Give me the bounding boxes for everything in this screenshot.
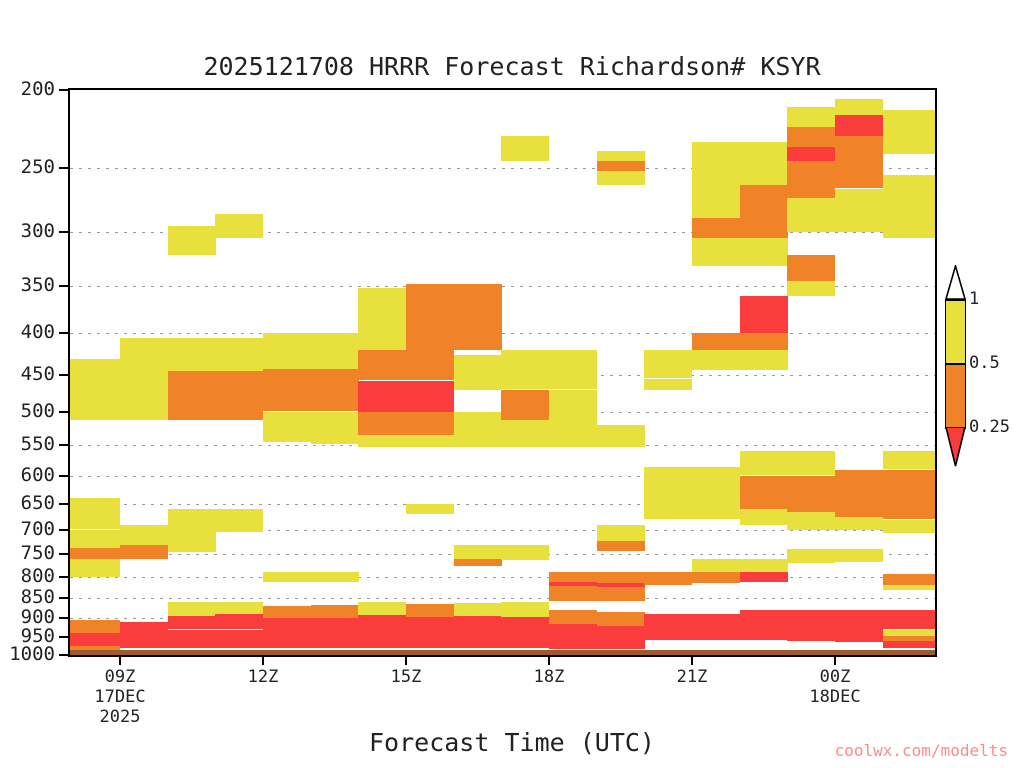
colorbar-tick-label: 1 [969, 291, 979, 308]
heatmap-cell [787, 281, 835, 296]
heatmap-cell [597, 639, 645, 649]
heatmap-cell [549, 624, 597, 637]
heatmap-cell [168, 509, 216, 530]
heatmap-cell [644, 614, 692, 628]
heatmap-cell [644, 379, 692, 390]
heatmap-cell [168, 530, 216, 552]
heatmap-cell [120, 390, 168, 420]
x-axis-label: 18Z [489, 667, 609, 687]
heatmap-cell [311, 618, 359, 635]
heatmap-cell [692, 238, 740, 266]
heatmap-cell [454, 412, 502, 447]
heatmap-cell [358, 288, 406, 350]
heatmap-cell [406, 617, 454, 634]
heatmap-cell [835, 99, 883, 116]
heatmap-cell [358, 412, 406, 436]
y-axis-tick [59, 529, 68, 531]
heatmap-cell [549, 610, 597, 624]
y-axis-tick [59, 89, 68, 91]
heatmap-cell [883, 498, 935, 519]
plot-clip [70, 90, 935, 655]
heatmap-cell [740, 476, 788, 509]
heatmap-cell [597, 425, 645, 447]
heatmap-cell [787, 161, 835, 198]
heatmap-cell [597, 572, 645, 583]
y-axis-label: 800 [0, 567, 55, 586]
y-axis-label: 350 [0, 276, 55, 295]
heatmap-cell [215, 602, 263, 614]
heatmap-cell [549, 572, 597, 582]
heatmap-cell [692, 218, 740, 238]
heatmap-cell [501, 635, 549, 648]
heatmap-cell [501, 136, 549, 161]
heatmap-cell [549, 420, 597, 447]
heatmap-cell [740, 509, 788, 525]
heatmap-cell [883, 610, 935, 629]
heatmap-cell [406, 604, 454, 617]
heatmap-cell [70, 402, 120, 420]
y-axis-tick [59, 231, 68, 233]
heatmap-cell [883, 470, 935, 499]
heatmap-cell [787, 198, 835, 232]
heatmap-cell [692, 559, 740, 573]
y-axis-label: 850 [0, 588, 55, 607]
heatmap-cell [70, 548, 120, 559]
heatmap-cell [883, 175, 935, 214]
x-axis-label: 15Z [346, 667, 466, 687]
heatmap-cell [883, 214, 935, 238]
heatmap-cell [501, 545, 549, 560]
x-axis-tick [119, 656, 121, 665]
heatmap-cell [501, 617, 549, 635]
y-axis-label: 250 [0, 158, 55, 177]
heatmap-cell [120, 338, 168, 390]
heatmap-cell [454, 634, 502, 648]
y-axis-tick [59, 576, 68, 578]
heatmap-cell [597, 161, 645, 171]
y-axis-label: 650 [0, 494, 55, 513]
heatmap-cell [692, 498, 740, 519]
gridline [70, 333, 935, 334]
heatmap-cell [740, 185, 788, 218]
heatmap-cell [549, 586, 597, 601]
heatmap-cell [263, 572, 311, 582]
heatmap-cell [263, 606, 311, 618]
terrain-band [70, 650, 935, 655]
y-axis-tick [59, 374, 68, 376]
heatmap-cell [454, 390, 502, 412]
heatmap-cell [406, 381, 454, 412]
heatmap-cell [215, 614, 263, 629]
heatmap-cell [644, 467, 692, 499]
y-axis-tick [59, 475, 68, 477]
x-axis-tick [834, 656, 836, 665]
heatmap-cell [740, 451, 788, 475]
heatmap-cell [644, 350, 692, 378]
heatmap-cell [549, 637, 597, 649]
heatmap-cell [835, 168, 883, 188]
heatmap-cell [406, 435, 454, 447]
heatmap-cell [597, 541, 645, 551]
heatmap-cell [70, 559, 120, 577]
heatmap-cell [692, 628, 740, 640]
x-axis-label: 12Z [203, 667, 323, 687]
colorbar-tick-label: 0.5 [969, 355, 1000, 372]
heatmap-cell [70, 620, 120, 633]
colorbar-segment [945, 363, 966, 427]
heatmap-cell [740, 350, 788, 370]
y-axis-label: 400 [0, 323, 55, 342]
y-axis-tick [59, 636, 68, 638]
page-title: 2025121708 HRRR Forecast Richardson# KSY… [0, 52, 1024, 81]
heatmap-cell [835, 214, 883, 232]
heatmap-cell [740, 333, 788, 350]
heatmap-cell [215, 509, 263, 532]
heatmap-cell [835, 610, 883, 629]
heatmap-cell [692, 142, 740, 218]
y-axis-tick [59, 503, 68, 505]
gridline [70, 598, 935, 599]
heatmap-cell [406, 350, 454, 380]
heatmap-cell [787, 255, 835, 281]
y-axis-label: 750 [0, 544, 55, 563]
heatmap-cell [358, 350, 406, 380]
x-axis-tick [691, 656, 693, 665]
heatmap-cell [740, 296, 788, 333]
heatmap-cell [454, 284, 502, 350]
heatmap-cell [835, 470, 883, 499]
heatmap-cell [120, 622, 168, 635]
heatmap-cell [501, 390, 549, 420]
y-axis-tick [59, 553, 68, 555]
heatmap-cell [549, 390, 597, 420]
x-axis-label: 21Z [632, 667, 752, 687]
colorbar-divider [945, 363, 966, 365]
heatmap-cell [263, 369, 311, 411]
heatmap-cell [787, 107, 835, 127]
heatmap-cell [406, 504, 454, 514]
heatmap-cell [263, 635, 311, 648]
heatmap-cell [406, 284, 454, 350]
heatmap-cell [120, 525, 168, 545]
heatmap-cell [168, 602, 216, 616]
heatmap-cell [454, 603, 502, 616]
heatmap-cell [883, 641, 935, 648]
heatmap-cell [263, 333, 311, 369]
y-axis-label: 550 [0, 435, 55, 454]
heatmap-cell [787, 127, 835, 147]
heatmap-cell [787, 476, 835, 512]
heatmap-cell [120, 635, 168, 648]
heatmap-cell [644, 572, 692, 585]
heatmap-cell [835, 549, 883, 562]
heatmap-cell [835, 629, 883, 642]
heatmap-cell [787, 512, 835, 530]
heatmap-cell [835, 115, 883, 136]
y-axis-label: 1000 [0, 645, 55, 664]
richardson-number-colorbar: 10.50.25 [945, 299, 966, 459]
heatmap-cell [215, 338, 263, 371]
heatmap-cell [215, 630, 263, 648]
heatmap-cell [120, 545, 168, 559]
y-axis-label: 600 [0, 466, 55, 485]
y-axis-tick [59, 617, 68, 619]
heatmap-cell [501, 602, 549, 617]
heatmap-cell [70, 530, 120, 548]
heatmap-cell [70, 633, 120, 646]
heatmap-cell [311, 635, 359, 648]
heatmap-cell [740, 238, 788, 266]
heatmap-cell [406, 412, 454, 436]
heatmap-cell [168, 226, 216, 255]
heatmap-cell [787, 451, 835, 475]
heatmap-cell [740, 218, 788, 238]
heatmap-cell [787, 628, 835, 641]
heatmap-cell [454, 559, 502, 566]
plot-area [68, 88, 937, 657]
y-axis-tick [59, 167, 68, 169]
heatmap-cell [454, 355, 502, 390]
heatmap-cell [835, 498, 883, 517]
heatmap-cell [263, 618, 311, 635]
heatmap-cell [835, 136, 883, 168]
y-axis-tick [59, 597, 68, 599]
heatmap-cell [597, 612, 645, 626]
y-axis-tick [59, 444, 68, 446]
heatmap-cell [454, 616, 502, 634]
heatmap-cell [454, 545, 502, 559]
y-axis-tick [59, 411, 68, 413]
colorbar-cap-high [945, 265, 966, 299]
colorbar-cap-low [945, 427, 966, 467]
heatmap-cell [168, 616, 216, 629]
heatmap-cell [787, 610, 835, 628]
heatmap-cell [358, 435, 406, 447]
heatmap-cell [597, 587, 645, 601]
heatmap-cell [740, 610, 788, 626]
heatmap-cell [358, 633, 406, 648]
heatmap-cell [835, 189, 883, 215]
heatmap-cell [644, 628, 692, 640]
heatmap-cell [311, 369, 359, 411]
heatmap-cell [358, 602, 406, 615]
y-axis-tick [59, 285, 68, 287]
heatmap-cell [835, 517, 883, 530]
heatmap-cell [740, 572, 788, 582]
colorbar-segment [945, 299, 966, 363]
heatmap-cell [215, 371, 263, 420]
heatmap-cell [215, 214, 263, 238]
y-axis-label: 300 [0, 222, 55, 241]
heatmap-cell [883, 520, 935, 533]
heatmap-cell [692, 572, 740, 583]
x-axis-tick [548, 656, 550, 665]
y-axis-label: 200 [0, 80, 55, 99]
heatmap-cell [883, 110, 935, 154]
x-axis-label: 09Z 17DEC 2025 [60, 667, 180, 727]
heatmap-cell [597, 525, 645, 541]
heatmap-cell [70, 498, 120, 529]
gridline [70, 577, 935, 578]
colorbar-tick-label: 0.25 [969, 419, 1010, 436]
y-axis-tick [59, 654, 68, 656]
y-axis-label: 700 [0, 520, 55, 539]
y-axis-tick [59, 332, 68, 334]
heatmap-cell [644, 498, 692, 519]
heatmap-cell [692, 614, 740, 628]
heatmap-cell [311, 333, 359, 369]
heatmap-cell [883, 585, 935, 590]
heatmap-cell [501, 420, 549, 447]
x-axis-label: 00Z 18DEC [775, 667, 895, 707]
heatmap-cell [358, 615, 406, 633]
heatmap-cell [501, 350, 549, 389]
heatmap-cell [168, 630, 216, 648]
heatmap-cell [740, 142, 788, 185]
heatmap-cell [787, 549, 835, 563]
heatmap-cell [787, 147, 835, 162]
heatmap-cell [168, 371, 216, 420]
heatmap-cell [168, 338, 216, 371]
y-axis-label: 500 [0, 402, 55, 421]
heatmap-cell [597, 626, 645, 639]
heatmap-cell [358, 381, 406, 412]
colorbar-divider [945, 299, 966, 301]
heatmap-cell [883, 451, 935, 469]
x-axis-tick [405, 656, 407, 665]
heatmap-cell [692, 467, 740, 499]
heatmap-cell [311, 572, 359, 582]
x-axis-tick [262, 656, 264, 665]
heatmap-cell [740, 626, 788, 640]
heatmap-cell [692, 350, 740, 370]
heatmap-cell [263, 412, 311, 442]
watermark: coolwx.com/modelts [0, 741, 1008, 760]
heatmap-cell [406, 634, 454, 648]
heatmap-cell [883, 574, 935, 585]
heatmap-cell [311, 605, 359, 618]
heatmap-cell [70, 359, 120, 403]
heatmap-cell [692, 333, 740, 350]
heatmap-cell [549, 350, 597, 389]
y-axis-label: 450 [0, 365, 55, 384]
heatmap-cell [311, 412, 359, 444]
heatmap-cell [740, 559, 788, 573]
chart-canvas: 2025121708 HRRR Forecast Richardson# KSY… [0, 0, 1024, 768]
